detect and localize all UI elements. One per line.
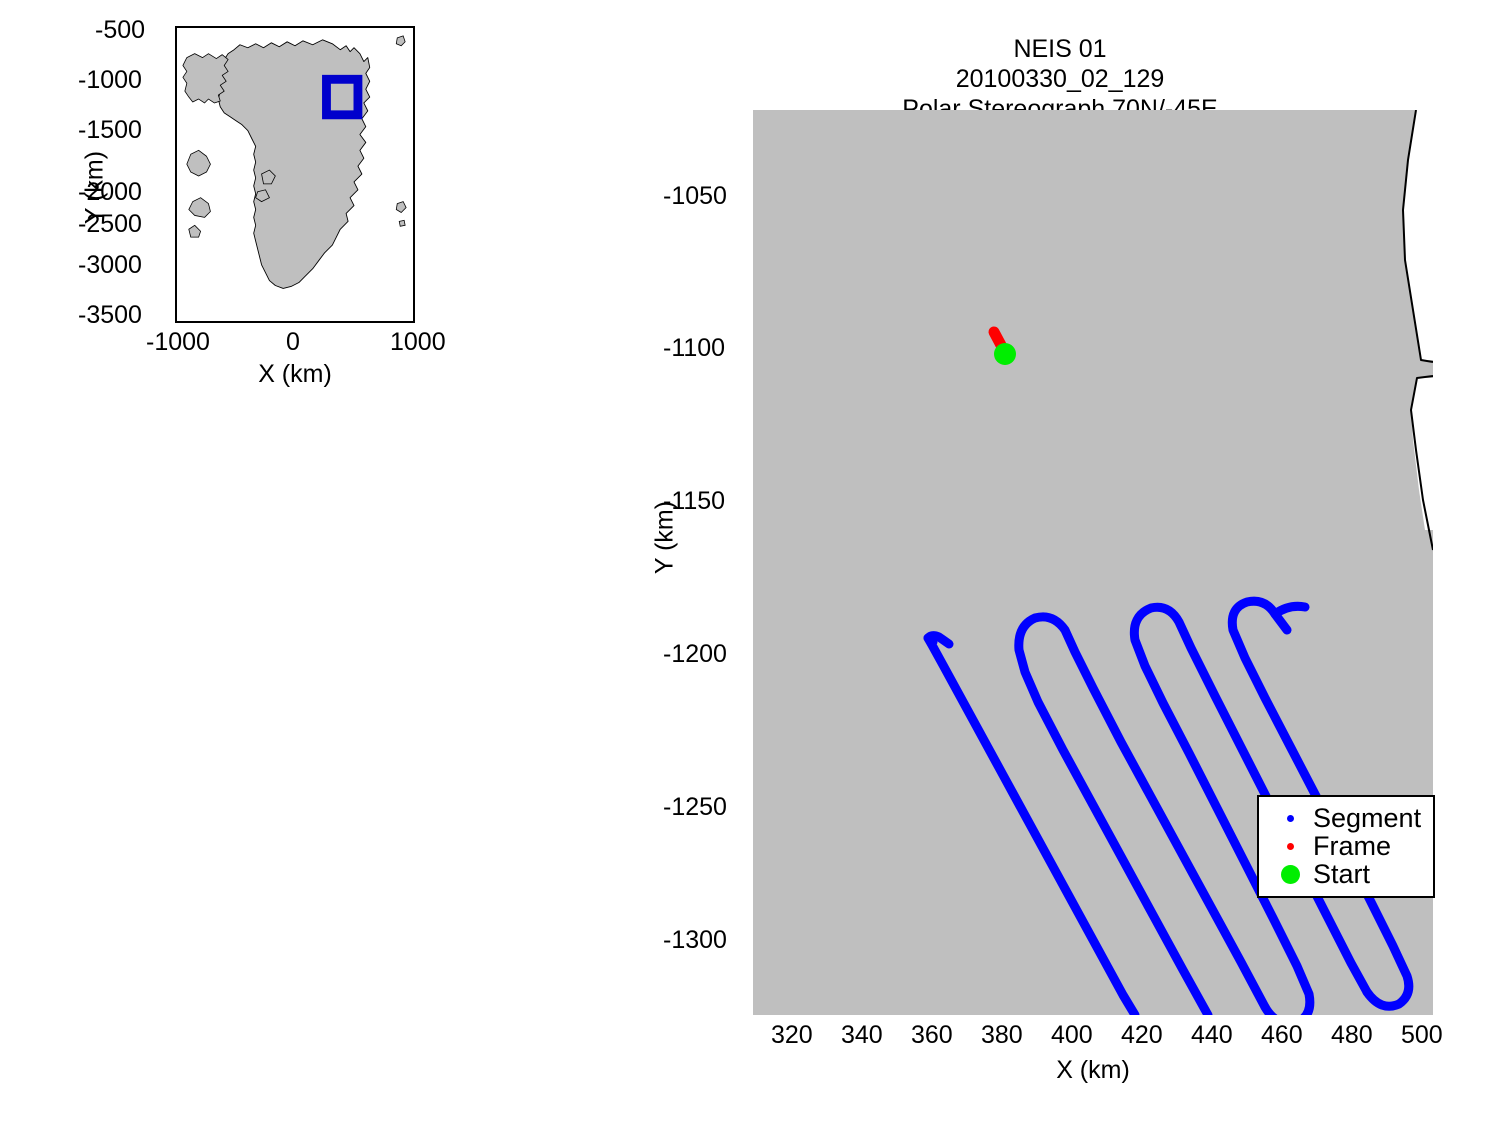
legend-entry-start: Start xyxy=(1267,860,1425,888)
main-x-axis-label: X (km) xyxy=(753,1058,1433,1083)
inset-y-tick: -3500 xyxy=(78,303,142,328)
main-y-tick: -1200 xyxy=(663,642,727,667)
main-y-tick: -1250 xyxy=(663,795,727,820)
inset-map-plot-area xyxy=(175,26,415,323)
legend-entry-segment: Segment xyxy=(1267,804,1425,832)
inset-x-tick: 1000 xyxy=(390,330,446,355)
main-x-tick: 380 xyxy=(981,1023,1023,1048)
main-x-tick: 440 xyxy=(1191,1023,1233,1048)
main-x-tick: 320 xyxy=(771,1023,813,1048)
greenland-west-islet-small xyxy=(189,198,211,218)
legend-label-segment: Segment xyxy=(1313,805,1421,832)
main-x-tick: 500 xyxy=(1401,1023,1443,1048)
map-legend: Segment Frame Start xyxy=(1257,795,1435,898)
title-line-dataset: 20100330_02_129 xyxy=(620,64,1500,94)
legend-label-start: Start xyxy=(1313,861,1370,888)
inset-y-tick: -2000 xyxy=(78,180,142,205)
main-y-tick: -1050 xyxy=(663,184,727,209)
main-x-tick: 400 xyxy=(1051,1023,1093,1048)
greenland-east-speck-north xyxy=(396,36,405,46)
inset-y-tick: -2500 xyxy=(78,212,142,237)
main-y-tick: -1150 xyxy=(663,489,725,514)
main-y-tick: -1100 xyxy=(663,336,725,361)
start-marker-icon xyxy=(1267,865,1313,884)
legend-label-frame: Frame xyxy=(1313,833,1391,860)
greenland-outline-svg xyxy=(177,28,413,321)
inset-y-tick: -1500 xyxy=(78,118,142,143)
start-marker xyxy=(994,343,1016,365)
inset-x-tick: 0 xyxy=(286,330,300,355)
inset-overview-panel: Y (km) -500 -1000 -1500 -2000 -2500 -300… xyxy=(0,0,460,390)
main-y-tick: -1300 xyxy=(663,928,727,953)
inset-y-tick: -500 xyxy=(95,18,145,43)
greenland-west-islets xyxy=(187,150,211,176)
main-map-panel: NEIS 01 20100330_02_129 Polar Stereograp… xyxy=(620,0,1500,1125)
inset-x-tick: -1000 xyxy=(146,330,210,355)
greenland-southwest-islet xyxy=(189,225,201,237)
segment-marker-icon xyxy=(1267,815,1313,822)
title-line-site: NEIS 01 xyxy=(620,34,1500,64)
inset-y-tick: -1000 xyxy=(78,68,142,93)
inset-x-axis-label: X (km) xyxy=(175,362,415,387)
main-x-tick: 420 xyxy=(1121,1023,1163,1048)
inset-y-tick: -3000 xyxy=(78,253,142,278)
greenland-east-speck-south2 xyxy=(399,220,405,226)
legend-entry-frame: Frame xyxy=(1267,832,1425,860)
main-x-tick: 460 xyxy=(1261,1023,1303,1048)
main-x-tick: 340 xyxy=(841,1023,883,1048)
main-x-tick: 360 xyxy=(911,1023,953,1048)
main-x-tick: 480 xyxy=(1331,1023,1373,1048)
frame-marker-icon xyxy=(1267,843,1313,850)
greenland-east-speck-south xyxy=(396,202,406,213)
